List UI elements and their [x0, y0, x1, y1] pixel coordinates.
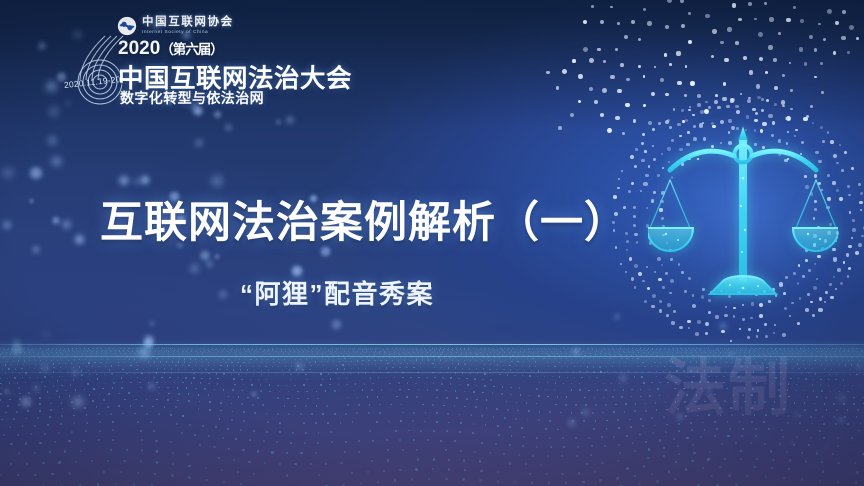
background-vignette: [0, 0, 864, 486]
presentation-slide: 2020.11.19-20 中国互联网协会 Internet Society o…: [0, 0, 864, 486]
